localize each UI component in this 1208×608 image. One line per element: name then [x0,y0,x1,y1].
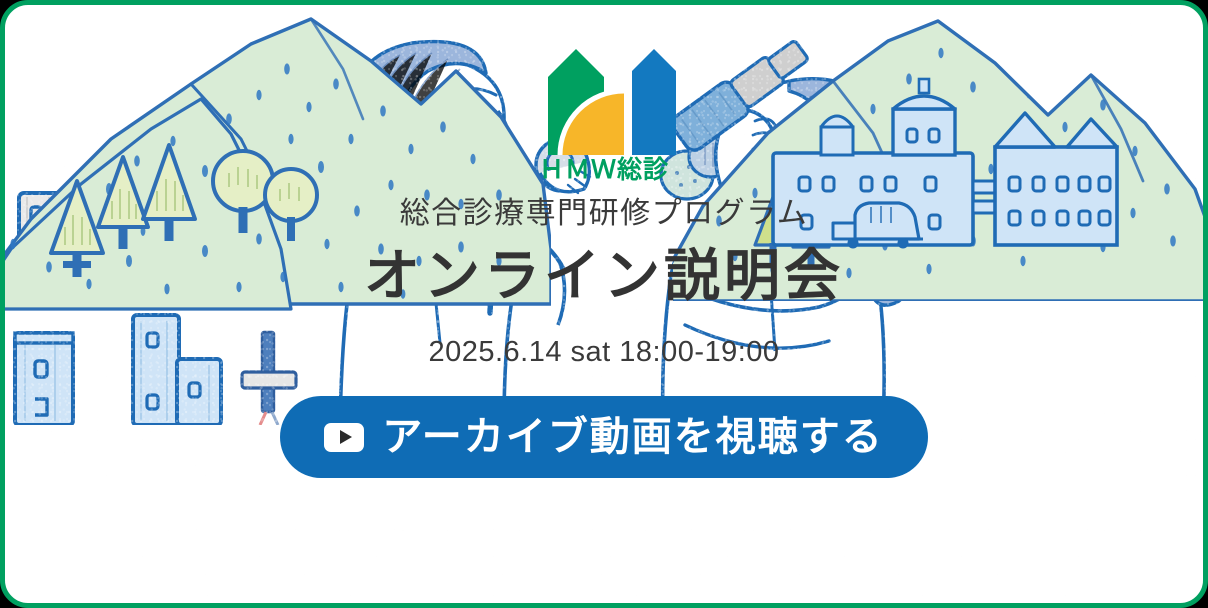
brand-logo: ＨＭＷ総診 [519,31,689,183]
program-name: 総合診療専門研修プログラム [400,197,809,230]
watch-archive-label: アーカイブ動画を視聴する [382,417,884,457]
hmw-sousin-logo-mark [530,31,678,155]
event-datetime: 2025.6.14 sat 18:00-19:00 [428,337,779,369]
online-briefing-banner: ＨＭＷ総診 総合診療専門研修プログラム オンライン説明会 2025.6.14 s… [0,0,1208,608]
watch-archive-button[interactable]: アーカイブ動画を視聴する [280,396,928,478]
logo-wordmark: ＨＭＷ総診 [539,158,669,183]
event-title: オンライン説明会 [364,245,844,307]
youtube-play-icon [324,423,364,452]
